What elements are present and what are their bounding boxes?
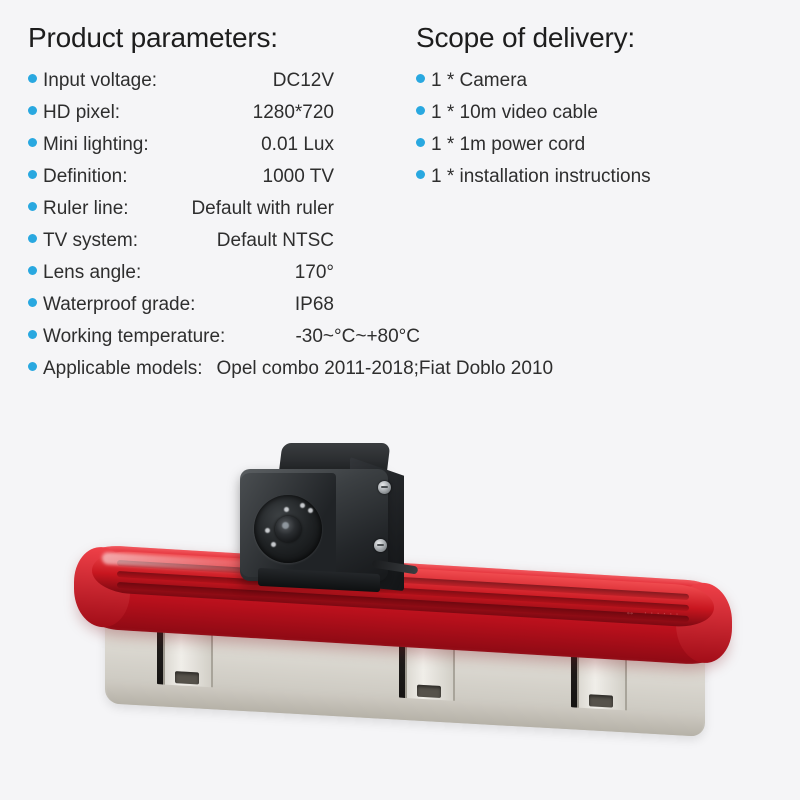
spec-value: 1000 TV <box>128 164 335 190</box>
ir-led-icon <box>300 503 305 508</box>
bullet-icon <box>28 170 37 179</box>
bullet-icon <box>416 138 425 147</box>
spec-row: Working temperature: -30~°C~+80°C <box>28 324 420 350</box>
product-parameters-list: Input voltage: DC12V HD pixel: 1280*720 … <box>28 68 420 382</box>
ir-led-icon <box>308 508 313 513</box>
product-parameters-column: Product parameters: Input voltage: DC12V… <box>28 22 420 388</box>
spec-value: IP68 <box>195 292 334 318</box>
scope-of-delivery-list: 1 * Camera 1 * 10m video cable 1 * 1m po… <box>416 68 796 190</box>
spec-value: 170° <box>141 260 334 286</box>
product-parameters-heading: Product parameters: <box>28 22 420 54</box>
ir-led-icon <box>265 528 270 533</box>
spec-row: HD pixel: 1280*720 <box>28 100 334 126</box>
spec-label: TV system: <box>43 228 138 254</box>
bullet-icon <box>416 106 425 115</box>
spec-row: Ruler line: Default with ruler <box>28 196 334 222</box>
bracket-screw <box>374 539 387 552</box>
bullet-icon <box>28 138 37 147</box>
product-photo: ↔ ······ <box>0 415 800 800</box>
spec-label: Lens angle: <box>43 260 141 286</box>
spec-label: Ruler line: <box>43 196 129 222</box>
spec-value: DC12V <box>157 68 334 94</box>
spec-value: Default NTSC <box>138 228 334 254</box>
spec-label: Mini lighting: <box>43 132 149 158</box>
spec-label: HD pixel: <box>43 100 120 126</box>
list-item: 1 * 10m video cable <box>416 100 796 126</box>
delivery-item-label: 1 * 1m power cord <box>431 132 585 158</box>
delivery-item-label: 1 * installation instructions <box>431 164 651 190</box>
bullet-icon <box>28 202 37 211</box>
spec-value: Opel combo 2011-2018;Fiat Doblo 2010 <box>202 356 553 382</box>
bullet-icon <box>28 74 37 83</box>
bullet-icon <box>28 106 37 115</box>
camera-body <box>240 469 388 581</box>
scope-of-delivery-heading: Scope of delivery: <box>416 22 796 54</box>
bullet-icon <box>416 170 425 179</box>
lens-emboss-marking: ↔ ······ <box>625 607 682 620</box>
bullet-icon <box>28 234 37 243</box>
spec-row: Waterproof grade: IP68 <box>28 292 334 318</box>
camera-front-face <box>240 473 336 577</box>
bracket-screw <box>378 481 391 494</box>
delivery-item-label: 1 * Camera <box>431 68 527 94</box>
spec-label: Working temperature: <box>43 324 225 350</box>
camera-lens-ring <box>254 495 322 563</box>
ir-led-icon <box>284 507 289 512</box>
spec-label: Definition: <box>43 164 128 190</box>
spec-row: Applicable models: Opel combo 2011-2018;… <box>28 356 420 382</box>
spec-row: Definition: 1000 TV <box>28 164 334 190</box>
spec-value: 0.01 Lux <box>149 132 334 158</box>
bullet-icon <box>28 266 37 275</box>
bullet-icon <box>28 298 37 307</box>
specifications-area: Product parameters: Input voltage: DC12V… <box>0 0 800 410</box>
list-item: 1 * Camera <box>416 68 796 94</box>
reversing-camera-module <box>232 443 422 603</box>
spec-value: -30~°C~+80°C <box>225 324 420 350</box>
camera-lens-glass <box>275 516 301 542</box>
delivery-item-label: 1 * 10m video cable <box>431 100 598 126</box>
spec-value: 1280*720 <box>120 100 334 126</box>
bullet-icon <box>28 362 37 371</box>
spec-label: Input voltage: <box>43 68 157 94</box>
spec-row: Mini lighting: 0.01 Lux <box>28 132 334 158</box>
spec-value: Default with ruler <box>129 196 334 222</box>
spec-row: TV system: Default NTSC <box>28 228 334 254</box>
spec-row: Lens angle: 170° <box>28 260 334 286</box>
spec-row: Input voltage: DC12V <box>28 68 334 94</box>
bullet-icon <box>28 330 37 339</box>
list-item: 1 * installation instructions <box>416 164 796 190</box>
list-item: 1 * 1m power cord <box>416 132 796 158</box>
scope-of-delivery-column: Scope of delivery: 1 * Camera 1 * 10m vi… <box>416 22 796 196</box>
ir-led-icon <box>271 542 276 547</box>
bullet-icon <box>416 74 425 83</box>
spec-label: Applicable models: <box>43 356 202 382</box>
spec-label: Waterproof grade: <box>43 292 195 318</box>
